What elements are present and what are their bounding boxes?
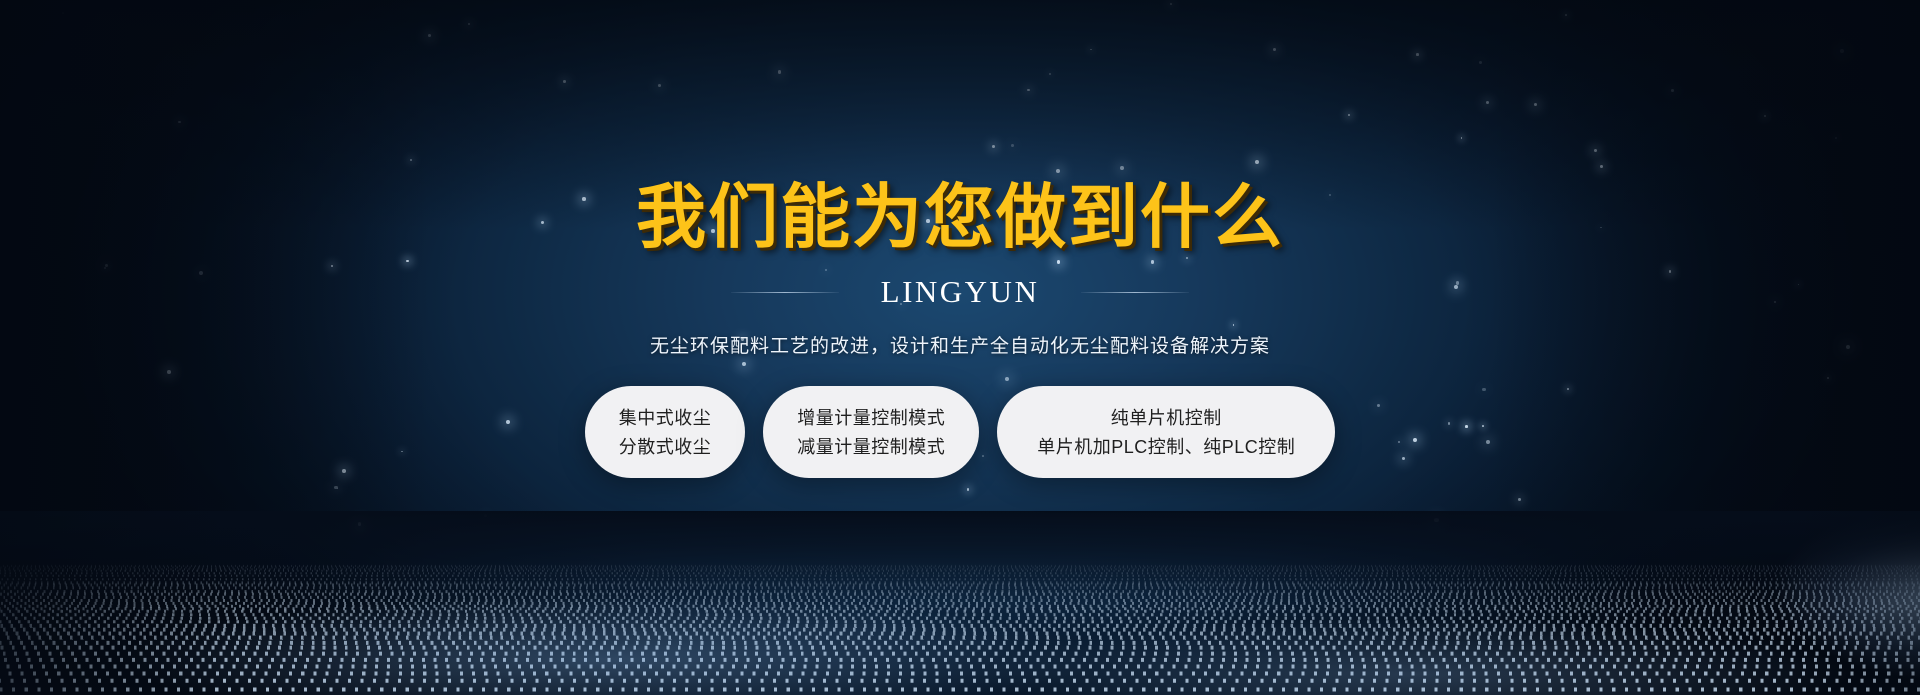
card-line: 减量计量控制模式: [797, 438, 945, 456]
feature-card-controller-type[interactable]: 纯单片机控制 单片机加PLC控制、纯PLC控制: [997, 386, 1335, 478]
feature-card-metering-control-mode[interactable]: 增量计量控制模式 减量计量控制模式: [763, 386, 979, 478]
page-title: 我们能为您做到什么: [636, 182, 1284, 252]
card-line: 分散式收尘: [619, 438, 712, 456]
banner-content: 我们能为您做到什么 LINGYUN 无尘环保配料工艺的改进，设计和生产全自动化无…: [0, 0, 1920, 695]
divider-line-right: [1081, 292, 1189, 293]
banner-subtitle: 无尘环保配料工艺的改进，设计和生产全自动化无尘配料设备解决方案: [650, 331, 1270, 358]
card-line: 单片机加PLC控制、纯PLC控制: [1037, 438, 1295, 456]
card-line: 增量计量控制模式: [797, 409, 945, 427]
card-line: 纯单片机控制: [1111, 409, 1222, 427]
brand-divider-row: LINGYUN: [731, 274, 1190, 310]
feature-card-list: 集中式收尘 分散式收尘 增量计量控制模式 减量计量控制模式 纯单片机控制 单片机…: [585, 386, 1336, 478]
card-line: 集中式收尘: [619, 409, 712, 427]
brand-name-en: LINGYUN: [881, 274, 1040, 310]
feature-card-dust-collection[interactable]: 集中式收尘 分散式收尘: [585, 386, 746, 478]
hero-banner: 我们能为您做到什么 LINGYUN 无尘环保配料工艺的改进，设计和生产全自动化无…: [0, 0, 1920, 695]
divider-line-left: [731, 292, 839, 293]
